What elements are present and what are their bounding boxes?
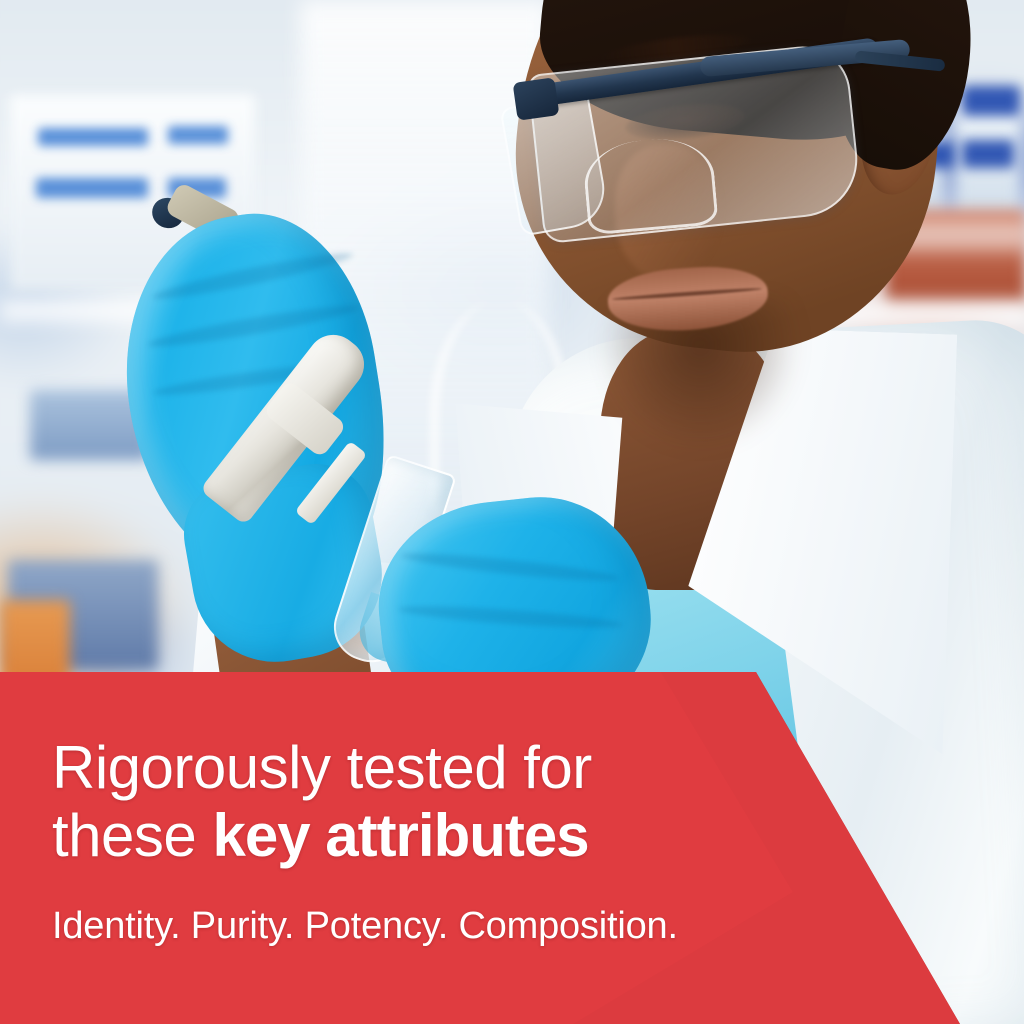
headline-line-2-light: these xyxy=(52,802,212,869)
banner-text-block: Rigorously tested for these key attribut… xyxy=(0,672,1024,1024)
safety-glasses-hinge xyxy=(513,77,560,120)
headline: Rigorously tested for these key attribut… xyxy=(52,734,1024,871)
headline-line-2-bold: key attributes xyxy=(212,802,588,869)
headline-line-2: these key attributes xyxy=(52,802,1024,870)
promotional-banner-image: Rigorously tested for these key attribut… xyxy=(0,0,1024,1024)
headline-line-1: Rigorously tested for xyxy=(52,734,1024,802)
subline-attributes: Identity. Purity. Potency. Composition. xyxy=(52,905,1024,948)
